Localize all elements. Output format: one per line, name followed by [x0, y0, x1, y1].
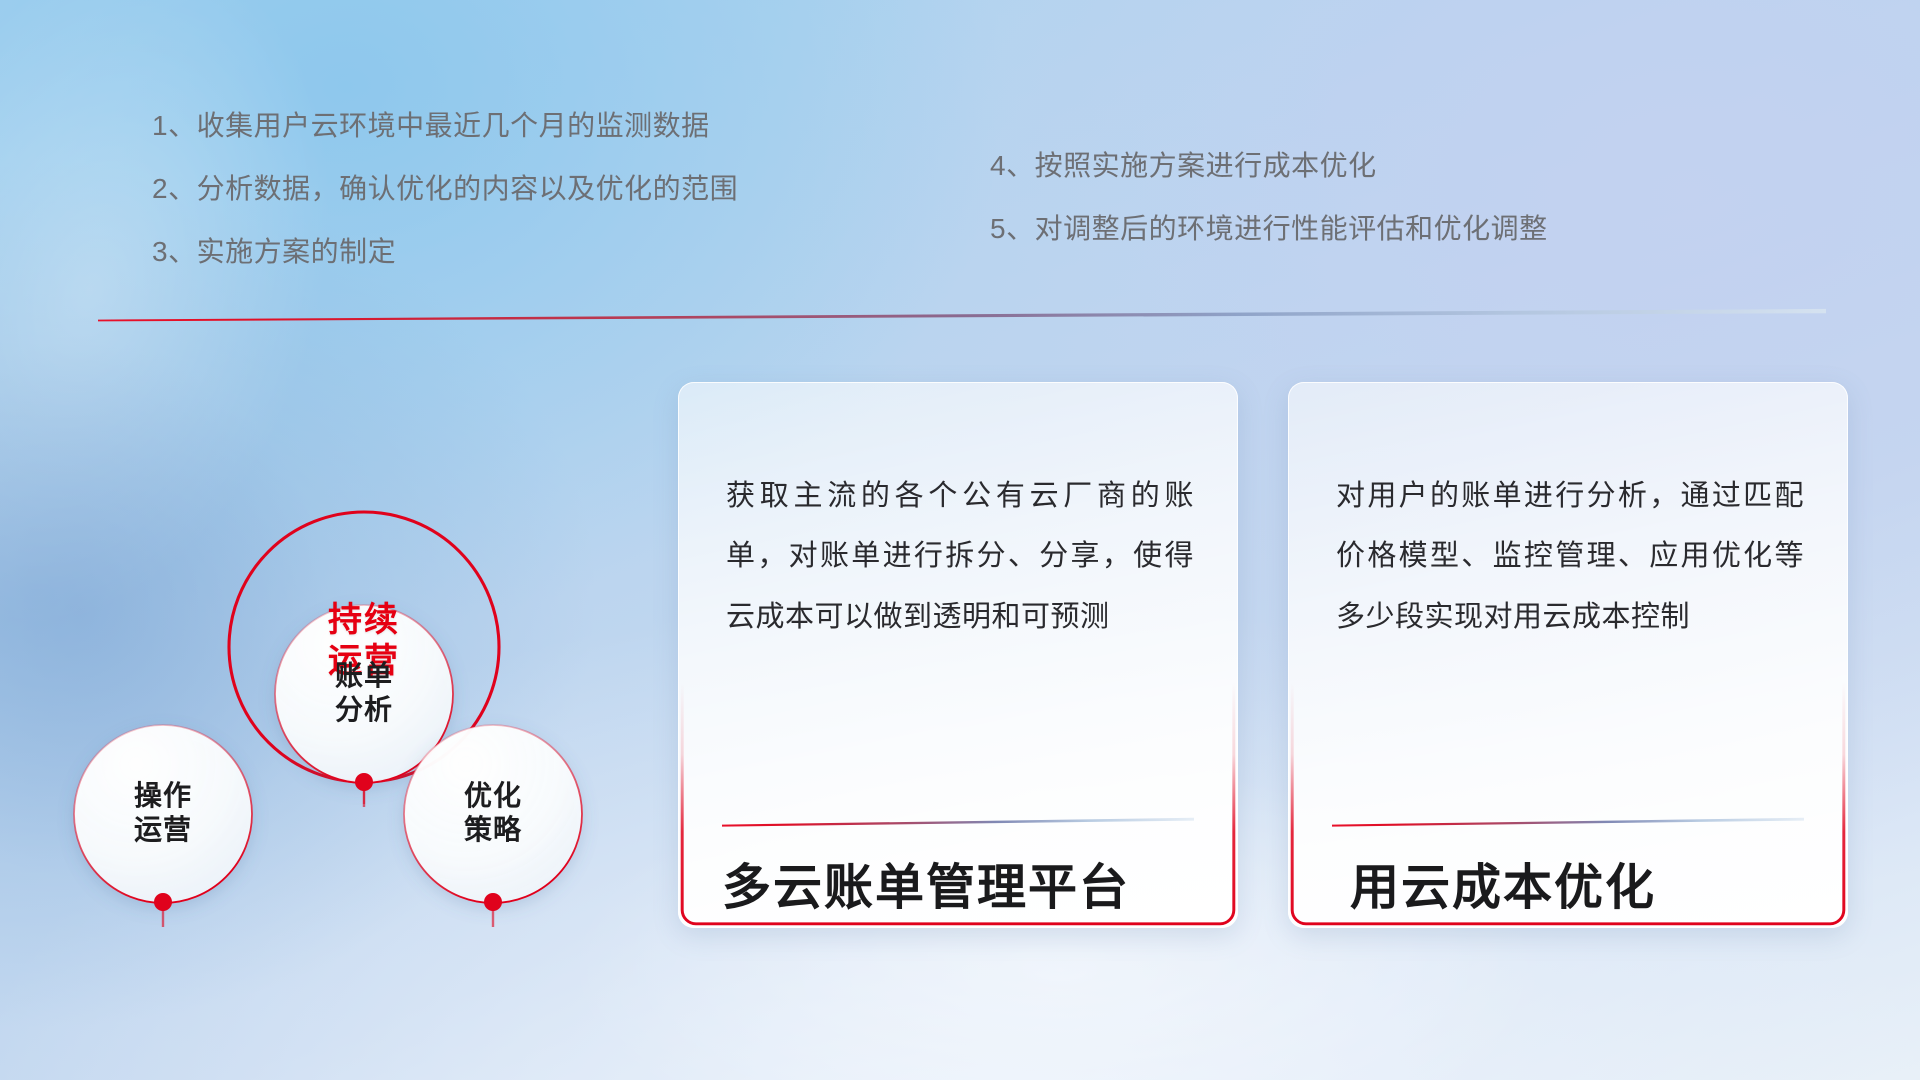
feature-card-multi-cloud-bill-platform[interactable]: 获取主流的各个公有云厂商的账单，对账单进行拆分、分享，使得云成本可以做到透明和可…: [678, 382, 1238, 928]
step-item-2: 2、分析数据，确认优化的内容以及优化的范围: [152, 175, 738, 203]
card-2-red-edge: [1288, 382, 1848, 928]
card-1-title: 多云账单管理平台: [722, 862, 1198, 916]
card-2-description: 对用户的账单进行分析，通过匹配价格模型、监控管理、应用优化等多少段实现对用云成本…: [1336, 466, 1804, 647]
steps-left-column: 1、收集用户云环境中最近几个月的监测数据 2、分析数据，确认优化的内容以及优化的…: [152, 112, 738, 266]
section-divider: [98, 308, 1826, 322]
continuous-operation-diagram: 持续 运营 账单 分析 操作 运营 优化 策略: [96, 352, 676, 952]
node-dot-top: [355, 773, 373, 791]
node-dot-bottom-left: [154, 893, 172, 911]
card-1-body: 获取主流的各个公有云厂商的账单，对账单进行拆分、分享，使得云成本可以做到透明和可…: [726, 466, 1194, 647]
card-2-body: 对用户的账单进行分析，通过匹配价格模型、监控管理、应用优化等多少段实现对用云成本…: [1336, 466, 1804, 647]
card-2-accent-rule: [1332, 817, 1804, 827]
step-item-3: 3、实施方案的制定: [152, 238, 738, 266]
step-item-5: 5、对调整后的环境进行性能评估和优化调整: [990, 215, 1548, 243]
card-2-title: 用云成本优化: [1350, 862, 1808, 916]
card-1-description: 获取主流的各个公有云厂商的账单，对账单进行拆分、分享，使得云成本可以做到透明和可…: [726, 466, 1194, 647]
step-item-1: 1、收集用户云环境中最近几个月的监测数据: [152, 112, 738, 140]
steps-right-column: 4、按照实施方案进行成本优化 5、对调整后的环境进行性能评估和优化调整: [990, 152, 1548, 243]
feature-card-cloud-cost-optimization[interactable]: 对用户的账单进行分析，通过匹配价格模型、监控管理、应用优化等多少段实现对用云成本…: [1288, 382, 1848, 928]
steps-section: 1、收集用户云环境中最近几个月的监测数据 2、分析数据，确认优化的内容以及优化的…: [0, 0, 1920, 300]
bubble-ops-operation-shape: [74, 725, 252, 903]
slide-canvas: 1、收集用户云环境中最近几个月的监测数据 2、分析数据，确认优化的内容以及优化的…: [0, 0, 1920, 1080]
card-1-accent-rule: [722, 817, 1194, 827]
bubble-optimize-policy-shape: [404, 725, 582, 903]
node-dot-bottom-right: [484, 893, 502, 911]
step-item-4: 4、按照实施方案进行成本优化: [990, 152, 1548, 180]
card-1-red-edge: [678, 382, 1238, 928]
